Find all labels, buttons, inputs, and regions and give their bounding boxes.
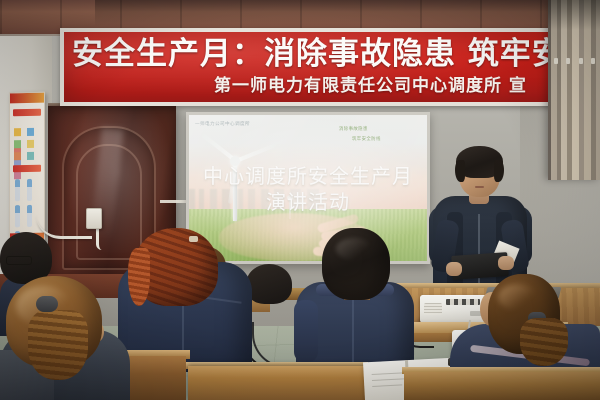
slide-projection-wash bbox=[189, 115, 427, 261]
poster-figure bbox=[15, 205, 20, 227]
glasses-icon bbox=[6, 256, 32, 265]
poster-section-header bbox=[13, 109, 41, 117]
banner: 安全生产月：消除事故隐患 筑牢安全防线 第一师电力有限责任公司中心调度所 宣 bbox=[60, 28, 600, 106]
banner-cloth: 安全生产月：消除事故隐患 筑牢安全防线 第一师电力有限责任公司中心调度所 宣 bbox=[64, 32, 600, 102]
presenter-mouth bbox=[475, 186, 484, 188]
poster-figure bbox=[27, 179, 32, 201]
presenter-hair-side bbox=[455, 160, 465, 182]
blind-clip bbox=[566, 58, 570, 64]
presentation-slide: 一师电力公司中心调度所 消除事故隐患 筑牢安全防线 中心调度所安全生产月 演讲活… bbox=[189, 115, 427, 261]
door-panel-inner bbox=[76, 144, 142, 260]
poster-figure bbox=[15, 179, 20, 201]
notebook-line bbox=[372, 384, 402, 387]
poster-icon-row bbox=[14, 145, 40, 154]
meeting-room-photo: 安全生产月：消除事故隐患 筑牢安全防线 第一师电力有限责任公司中心调度所 宣 一… bbox=[0, 0, 600, 400]
ponytail bbox=[28, 310, 88, 380]
notebook-line bbox=[372, 372, 404, 375]
poster-icon-row bbox=[14, 121, 40, 130]
poster-cell bbox=[27, 152, 34, 160]
bench bbox=[188, 366, 366, 400]
poster-icon-row bbox=[14, 133, 40, 142]
hair-lock bbox=[128, 248, 150, 306]
banner-subline: 第一师电力有限责任公司中心调度所 宣 bbox=[214, 74, 600, 98]
poster-cell bbox=[14, 171, 21, 179]
blind-clip bbox=[579, 58, 583, 64]
poster-section-header bbox=[13, 165, 41, 173]
blind-shadow bbox=[548, 0, 600, 30]
hair-highlight bbox=[336, 238, 372, 260]
notebook-line bbox=[372, 378, 404, 381]
audience-head-partial bbox=[246, 264, 292, 304]
ponytail bbox=[520, 318, 568, 366]
hair-clip bbox=[189, 236, 198, 242]
bench bbox=[404, 372, 600, 400]
banner-headline: 安全生产月：消除事故隐患 筑牢安全防线 bbox=[72, 34, 600, 74]
blind-clip bbox=[554, 58, 558, 64]
wall-socket[interactable] bbox=[86, 208, 102, 229]
hair-highlight bbox=[498, 284, 536, 310]
projector-ports bbox=[446, 299, 480, 305]
presenter-hand-right bbox=[498, 256, 514, 270]
presenter-hand-left bbox=[446, 262, 462, 276]
poster-cell bbox=[14, 152, 21, 160]
poster-figure bbox=[27, 205, 32, 227]
audience-member-arm bbox=[294, 300, 318, 362]
poster-top-strip bbox=[10, 93, 44, 104]
ceiling-shadow bbox=[95, 0, 600, 26]
hair-tie bbox=[36, 296, 58, 312]
blind-clip bbox=[591, 58, 595, 64]
